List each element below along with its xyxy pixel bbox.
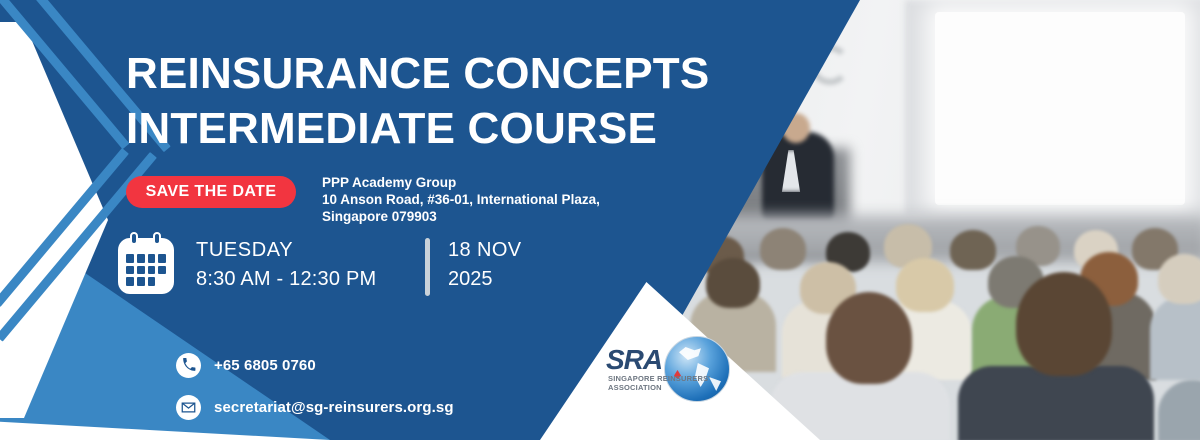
globe-landmass <box>679 347 701 360</box>
photo-audience-head <box>950 230 996 270</box>
photo-audience-head <box>1016 272 1112 376</box>
sra-wordmark: SRA <box>606 346 662 374</box>
title-line-1: REINSURANCE CONCEPTS <box>126 49 709 98</box>
page-title: REINSURANCE CONCEPTS INTERMEDIATE COURSE <box>126 46 766 156</box>
schedule-block: TUESDAY 8:30 AM - 12:30 PM 18 NOV 2025 <box>118 236 538 298</box>
venue-address-line-2: Singapore 079903 <box>322 208 652 225</box>
photo-projection-screen <box>935 12 1185 205</box>
photo-audience-body <box>1150 296 1200 380</box>
contact-row-phone: +65 6805 0760 <box>176 348 454 382</box>
venue-address-line-1: 10 Anson Road, #36-01, International Pla… <box>322 191 652 208</box>
globe-landmass <box>709 377 721 391</box>
save-the-date-badge: SAVE THE DATE <box>126 176 296 208</box>
sra-logo: SRA SINGAPORE REINSURERS' ASSOCIATION <box>600 336 730 402</box>
sra-subtitle-line-1: SINGAPORE REINSURERS' <box>608 374 710 383</box>
calendar-icon <box>118 238 174 294</box>
title-line-2: INTERMEDIATE COURSE <box>126 101 766 156</box>
banner-content: REINSURANCE CONCEPTS INTERMEDIATE COURSE… <box>0 0 860 440</box>
photo-audience-body <box>1158 380 1200 440</box>
photo-audience-head <box>896 258 954 312</box>
calendar-grid <box>126 254 166 286</box>
sra-globe-icon <box>664 336 730 402</box>
phone-icon <box>176 353 201 378</box>
sra-subtitle-line-2: ASSOCIATION <box>608 383 710 392</box>
photo-audience-head <box>1158 254 1200 304</box>
email-icon <box>176 395 201 420</box>
schedule-day: TUESDAY <box>196 236 376 265</box>
email-address[interactable]: secretariat@sg-reinsurers.org.sg <box>214 399 454 416</box>
schedule-year: 2025 <box>448 265 522 294</box>
calendar-ring-left <box>130 232 138 245</box>
venue-name: PPP Academy Group <box>322 174 652 191</box>
contact-block: +65 6805 0760 secretariat@sg-reinsurers.… <box>176 348 454 432</box>
schedule-date: 18 NOV <box>448 236 522 265</box>
photo-audience-body <box>958 366 1154 440</box>
event-banner: REINSURANCE CONCEPTS INTERMEDIATE COURSE… <box>0 0 1200 440</box>
phone-number[interactable]: +65 6805 0760 <box>214 357 316 374</box>
venue-block: PPP Academy Group 10 Anson Road, #36-01,… <box>322 174 652 225</box>
contact-row-email: secretariat@sg-reinsurers.org.sg <box>176 390 454 424</box>
sra-subtitle: SINGAPORE REINSURERS' ASSOCIATION <box>608 374 710 392</box>
schedule-day-time: TUESDAY 8:30 AM - 12:30 PM <box>196 236 376 294</box>
schedule-time: 8:30 AM - 12:30 PM <box>196 265 376 294</box>
calendar-ring-right <box>153 232 161 245</box>
schedule-date-year: 18 NOV 2025 <box>448 236 522 294</box>
schedule-divider <box>425 238 430 296</box>
